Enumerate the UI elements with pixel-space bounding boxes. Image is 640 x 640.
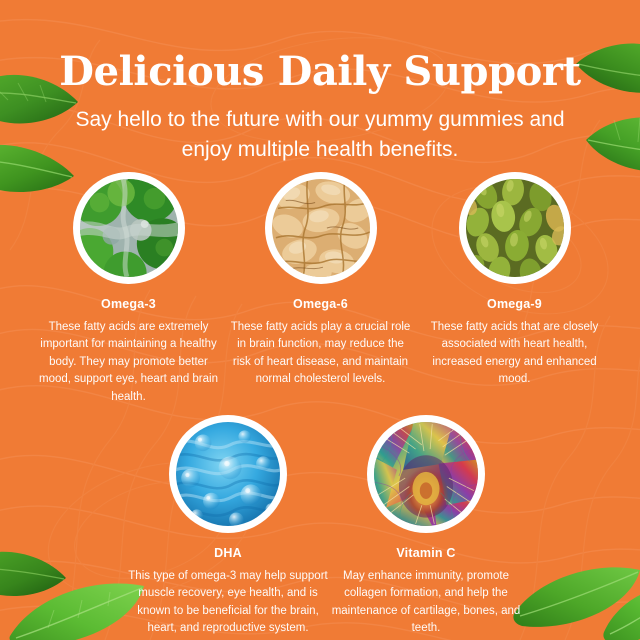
benefit-body-omega-6: These fatty acids play a crucial role in… — [228, 319, 413, 389]
benefit-body-omega-9: These fatty acids that are closely assoc… — [422, 319, 607, 389]
benefit-circle-omega-3 — [73, 172, 185, 284]
leaf-top-right-lower — [586, 106, 640, 178]
benefit-title-omega-9: Omega-9 — [422, 297, 607, 311]
benefit-circle-omega-6 — [265, 172, 377, 284]
leaf-bottom-right-right — [602, 588, 640, 640]
vitamin-c-crystals-image — [374, 422, 478, 526]
benefit-title-omega-3: Omega-3 — [36, 297, 221, 311]
benefit-circle-omega-9 — [459, 172, 571, 284]
benefit-title-dha: DHA — [128, 546, 328, 560]
benefit-card-dha: DHA This type of omega-3 may help suppor… — [128, 415, 328, 638]
benefit-circle-vitamin-c — [367, 415, 485, 533]
benefit-title-omega-6: Omega-6 — [228, 297, 413, 311]
leaf-bottom-right-left — [512, 566, 640, 632]
benefit-card-omega-9: Omega-9 These fatty acids that are close… — [422, 172, 607, 389]
blue-water-bubbles-image — [176, 422, 280, 526]
benefit-title-vitamin-c: Vitamin C — [326, 546, 526, 560]
green-olives-image — [466, 179, 564, 277]
page-subtitle: Say hello to the future with our yummy g… — [50, 105, 590, 166]
benefit-card-vitamin-c: Vitamin C May enhance immunity, promote … — [326, 415, 526, 638]
benefit-body-vitamin-c: May enhance immunity, promote collagen f… — [326, 568, 526, 638]
benefit-body-dha: This type of omega-3 may help support mu… — [128, 568, 328, 638]
infographic-page: Delicious Daily Support Say hello to the… — [0, 0, 640, 640]
walnuts-image — [272, 179, 370, 277]
leaf-bottom-left-lower — [8, 580, 148, 640]
page-title: Delicious Daily Support — [0, 51, 640, 93]
benefit-card-omega-6: Omega-6 These fatty acids play a crucial… — [228, 172, 413, 389]
leaf-bottom-left-upper — [0, 548, 68, 606]
benefit-card-omega-3: Omega-3 These fatty acids are extremely … — [36, 172, 221, 406]
algae-cells-image — [80, 179, 178, 277]
benefit-circle-dha — [169, 415, 287, 533]
benefit-body-omega-3: These fatty acids are extremely importan… — [36, 319, 221, 406]
